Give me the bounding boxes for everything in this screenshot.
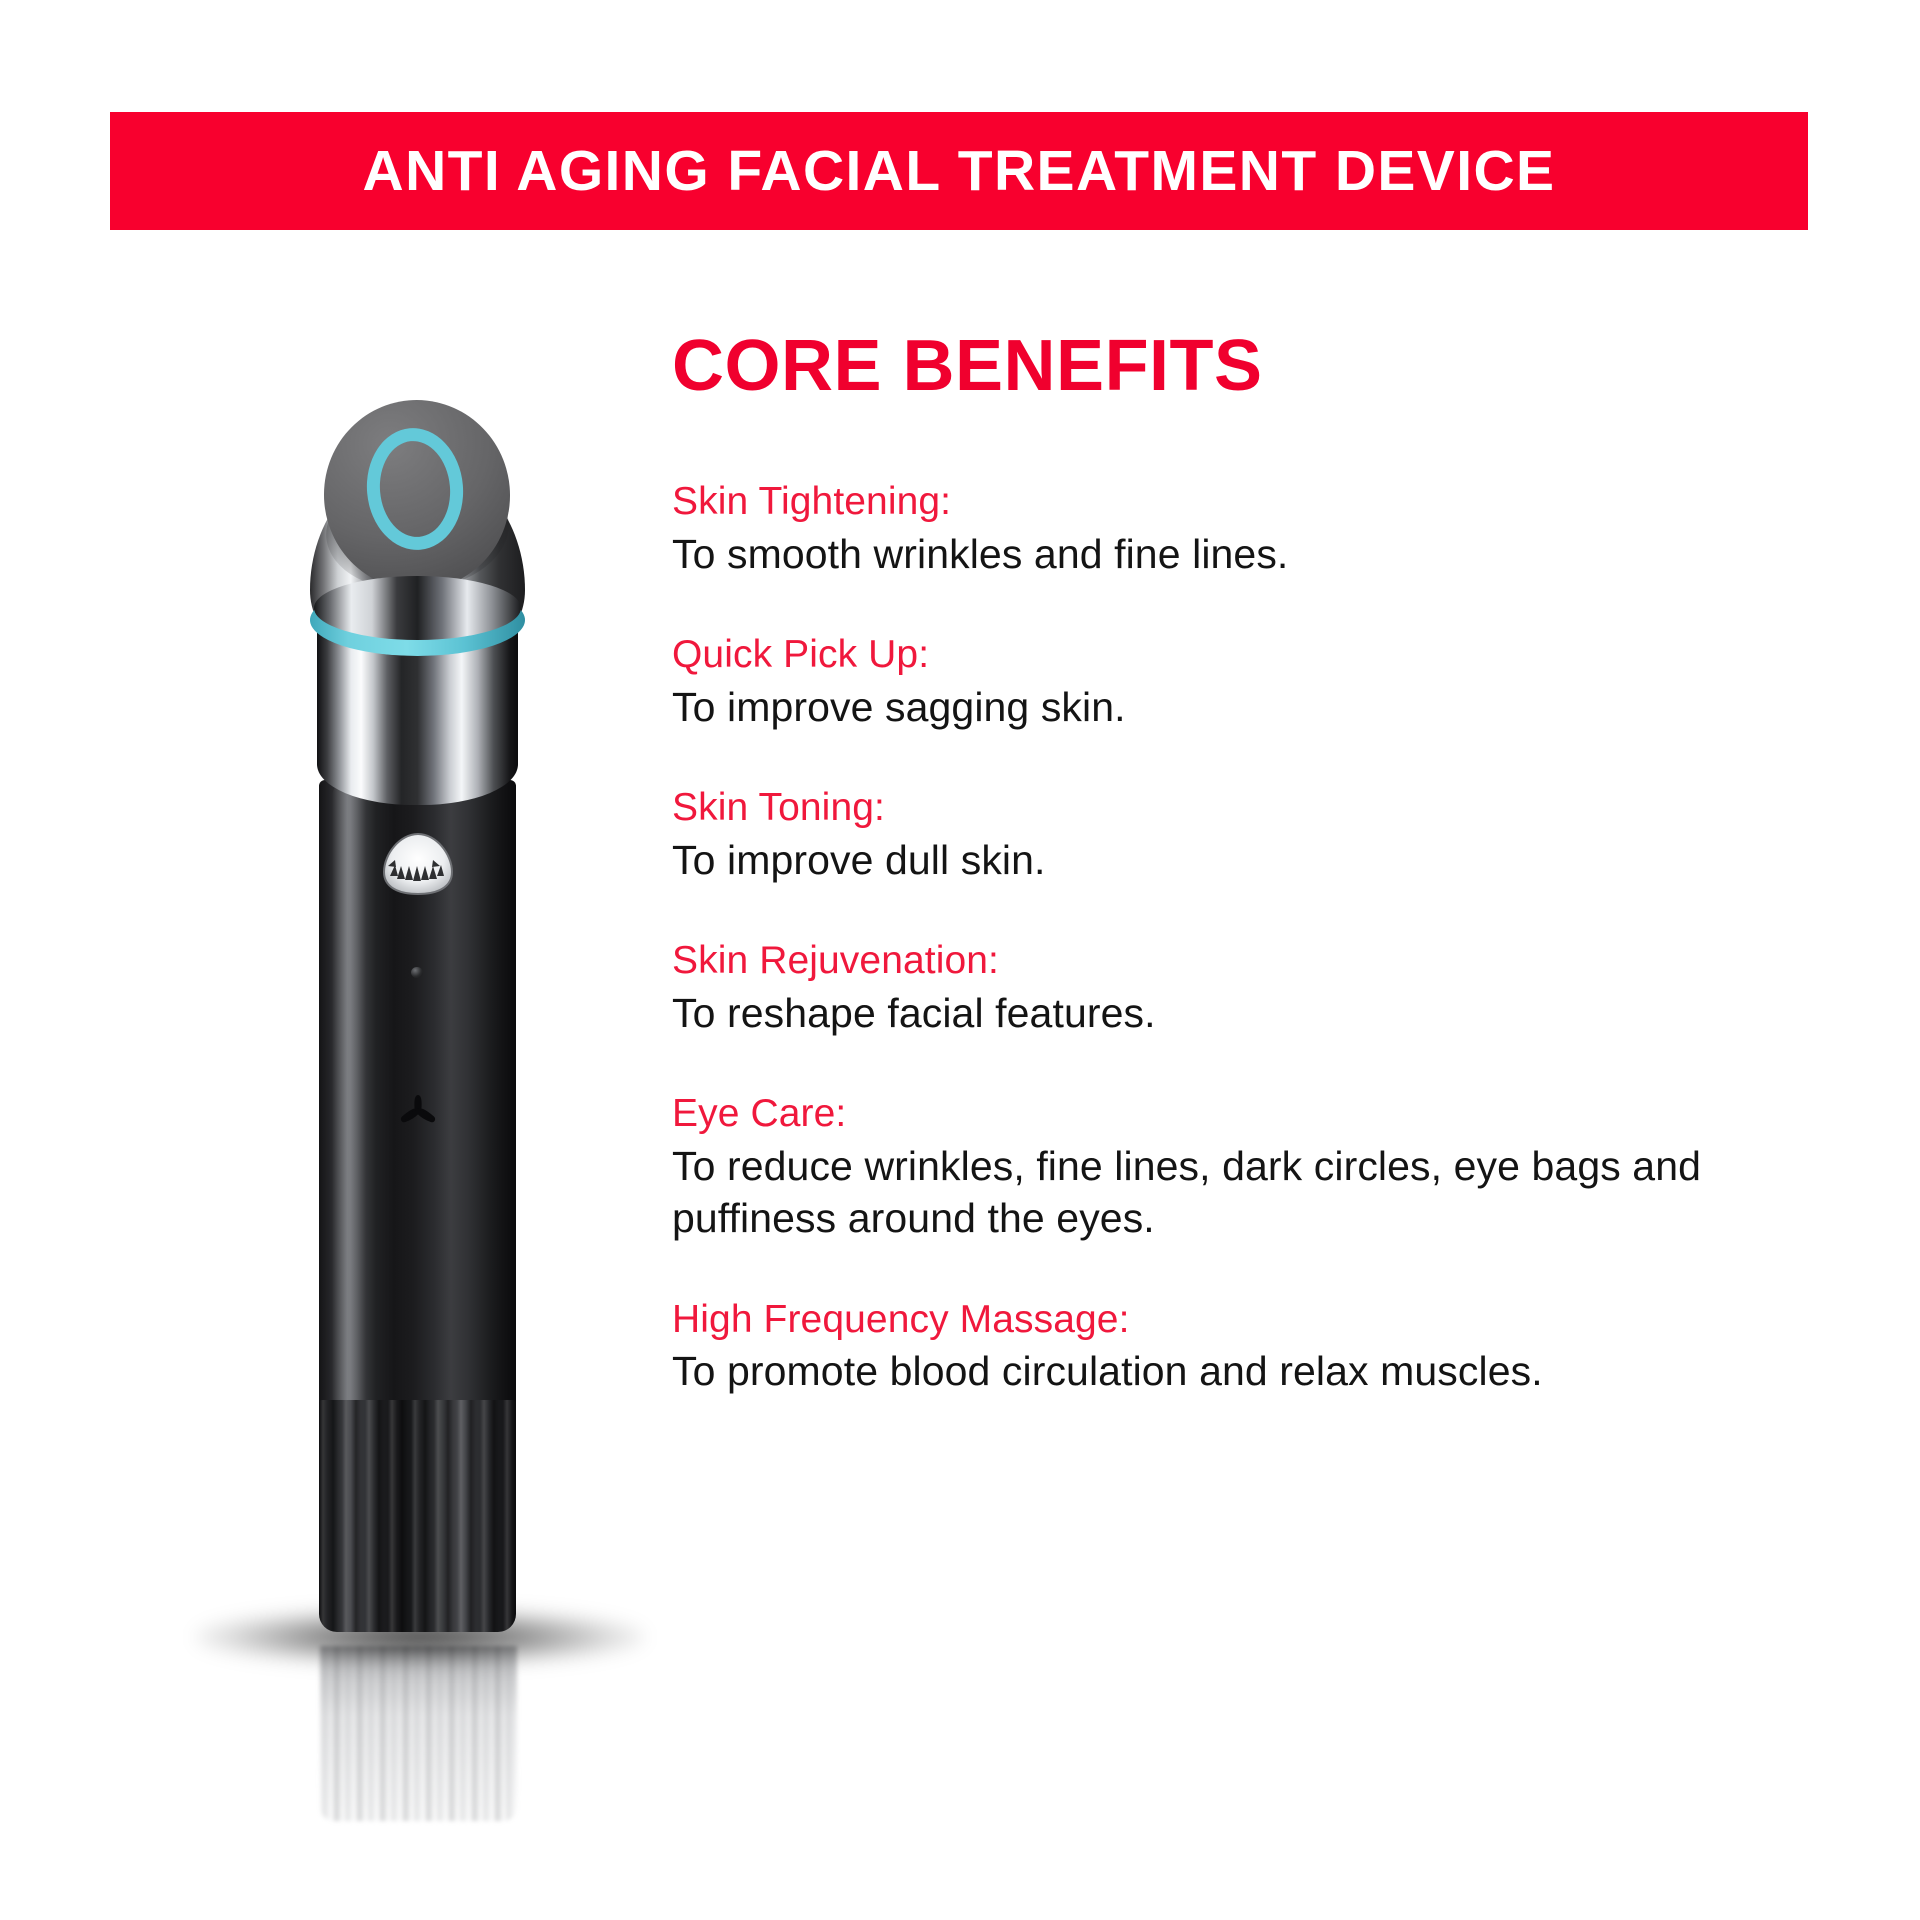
benefit-item-high-frequency-massage: High Frequency Massage: To promote blood… (672, 1296, 1732, 1398)
benefit-item-eye-care: Eye Care: To reduce wrinkles, fine lines… (672, 1090, 1732, 1245)
page-title: ANTI AGING FACIAL TREATMENT DEVICE (363, 143, 1556, 200)
benefit-title: Skin Tightening: (672, 478, 1732, 526)
product-image (190, 400, 650, 1800)
header-banner: ANTI AGING FACIAL TREATMENT DEVICE (110, 112, 1808, 230)
benefit-title: High Frequency Massage: (672, 1296, 1732, 1344)
benefit-item-skin-tightening: Skin Tightening: To smooth wrinkles and … (672, 478, 1732, 580)
benefit-description: To improve dull skin. (672, 834, 1732, 886)
benefit-title: Skin Rejuvenation: (672, 937, 1732, 985)
core-benefits-section: CORE BENEFITS Skin Tightening: To smooth… (672, 330, 1732, 1398)
content-area: CORE BENEFITS Skin Tightening: To smooth… (0, 230, 1920, 1920)
led-indicator (411, 967, 423, 978)
benefit-title: Quick Pick Up: (672, 631, 1732, 679)
ribbed-grip (319, 1400, 516, 1632)
device-illustration (310, 400, 525, 1635)
power-button (382, 832, 454, 896)
benefit-description: To improve sagging skin. (672, 681, 1732, 733)
benefit-item-skin-rejuvenation: Skin Rejuvenation: To reshape facial fea… (672, 937, 1732, 1039)
core-benefits-heading: CORE BENEFITS (672, 330, 1732, 402)
floor-reflection (320, 1646, 517, 1821)
benefit-title: Eye Care: (672, 1090, 1732, 1138)
brand-mark-icon (392, 1092, 444, 1138)
benefit-description: To reshape facial features. (672, 987, 1732, 1039)
benefit-description: To reduce wrinkles, fine lines, dark cir… (672, 1140, 1732, 1245)
benefit-description: To promote blood circulation and relax m… (672, 1345, 1732, 1397)
benefit-title: Skin Toning: (672, 784, 1732, 832)
benefit-item-quick-pick-up: Quick Pick Up: To improve sagging skin. (672, 631, 1732, 733)
benefit-item-skin-toning: Skin Toning: To improve dull skin. (672, 784, 1732, 886)
benefit-description: To smooth wrinkles and fine lines. (672, 528, 1732, 580)
teal-band-inner-chrome (314, 576, 521, 640)
